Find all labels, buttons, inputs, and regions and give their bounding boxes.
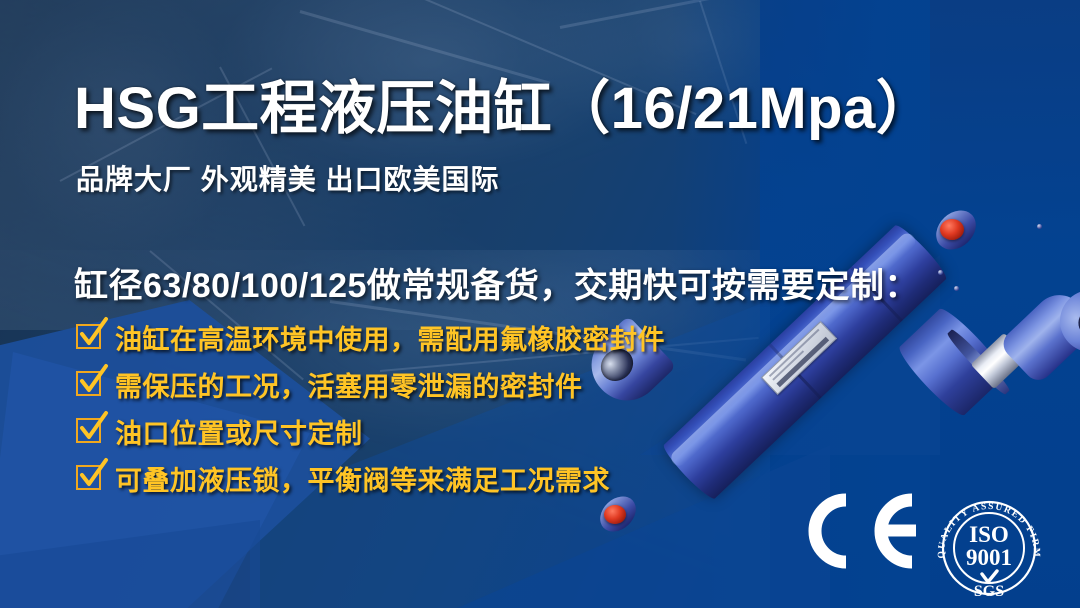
list-item-label: 需保压的工况，活塞用零泄漏的密封件 [115, 365, 583, 404]
list-item: 油口位置或尺寸定制 [76, 408, 665, 454]
subtitle: 品牌大厂 外观精美 出口欧美国际 [76, 158, 500, 198]
ce-marking-icon [800, 492, 920, 570]
lead-statement: 缸径63/80/100/125做常规备货，交期快可按需要定制： [74, 258, 919, 307]
list-item-label: 油口位置或尺寸定制 [115, 412, 363, 451]
marketing-banner: HSG工程液压油缸（16/21Mpa） 品牌大厂 外观精美 出口欧美国际 缸径6… [0, 0, 1080, 608]
iso-standard-number-line2: 9001 [966, 545, 1012, 570]
iso-9001-sgs-badge: QUALITY ASSURED FIRM ISO 9001 SGS [930, 492, 1048, 600]
list-item: 油缸在高温环境中使用，需配用氟橡胶密封件 [76, 314, 665, 360]
checkbox-checked-icon [76, 418, 103, 445]
list-item-label: 可叠加液压锁，平衡阀等来满足工况需求 [115, 459, 610, 498]
checkbox-checked-icon [76, 465, 103, 492]
checkbox-checked-icon [76, 371, 103, 398]
iso-standard-number-line1: ISO [969, 522, 1009, 547]
sgs-label: SGS [974, 583, 1004, 600]
page-title: HSG工程液压油缸（16/21Mpa） [74, 79, 934, 140]
list-item: 可叠加液压锁，平衡阀等来满足工况需求 [76, 455, 665, 501]
check-icon [982, 571, 997, 582]
feature-list: 油缸在高温环境中使用，需配用氟橡胶密封件 需保压的工况，活塞用零泄漏的密封件 [76, 314, 665, 502]
list-item-label: 油缸在高温环境中使用，需配用氟橡胶密封件 [115, 318, 665, 357]
list-item: 需保压的工况，活塞用零泄漏的密封件 [76, 361, 665, 407]
checkbox-checked-icon [76, 324, 103, 351]
